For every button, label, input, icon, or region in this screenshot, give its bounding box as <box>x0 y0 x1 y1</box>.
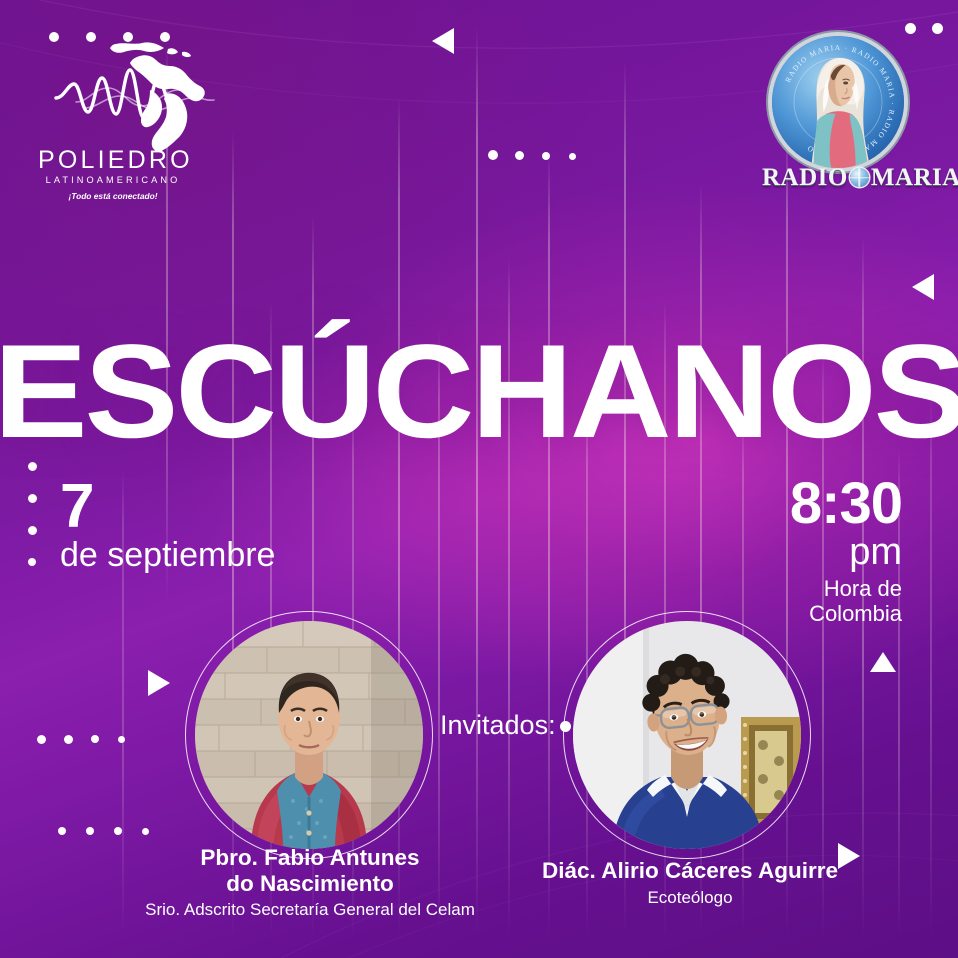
poliedro-wordmark: POLIEDRO <box>38 148 186 173</box>
portrait-man-red-jacket-brick-wall <box>195 621 423 849</box>
guests-label: Invitados: <box>440 710 556 741</box>
poliedro-logo[interactable]: POLIEDRO LATINOAMERICANO ¡Todo está cone… <box>38 40 238 190</box>
guest-1-name-line-2: do Nascimiento <box>110 871 510 897</box>
time-zone-line-1: Hora de <box>790 577 902 602</box>
virgin-mary-figure <box>799 52 881 168</box>
guest-photo-1 <box>195 621 423 849</box>
triangle-left-edge-icon <box>912 274 934 300</box>
page-title: ESCÚCHANOS <box>0 326 958 459</box>
guest-2-role: Ecoteólogo <box>490 888 890 908</box>
time-meridiem: pm <box>790 533 902 571</box>
guest-1-name-line-1: Pbro. Fabio Antunes <box>110 845 510 871</box>
triangle-left-top-icon <box>432 28 454 54</box>
guest-photo-2 <box>573 621 801 849</box>
event-date: 7 de septiembre <box>60 478 275 574</box>
event-time: 8:30 pm Hora de Colombia <box>790 476 902 626</box>
guest-2-name-line-1: Diác. Alirio Cáceres Aguirre <box>490 858 890 884</box>
time-clock: 8:30 <box>790 476 902 531</box>
date-day: 7 <box>60 478 275 535</box>
triangle-up-icon <box>870 652 896 672</box>
portrait-man-glasses-blue-sweater <box>573 621 801 849</box>
poliedro-tagline: ¡Todo está conectado! <box>38 192 188 200</box>
latin-america-map-waveform-icon <box>54 40 224 152</box>
guest-1-role: Srio. Adscrito Secretaría General del Ce… <box>110 900 510 920</box>
promo-poster: POLIEDRO LATINOAMERICANO ¡Todo está cone… <box>0 0 958 958</box>
radio-maria-logo[interactable]: RADIO MARIA · RADIO MARIA · RADIO MARIA … <box>762 36 922 186</box>
triangle-play-left-icon <box>148 670 170 696</box>
poliedro-subtitle: LATINOAMERICANO <box>38 176 188 185</box>
radio-maria-wordmark: RADIOMARIA <box>762 164 922 192</box>
guest-caption-2: Diác. Alirio Cáceres Aguirre Ecoteólogo <box>490 858 890 908</box>
globe-icon <box>850 168 869 187</box>
virgin-mary-medallion-icon: RADIO MARIA · RADIO MARIA · RADIO MARIA … <box>772 36 904 168</box>
time-zone: Hora de Colombia <box>790 577 902 626</box>
maria-word: MARIA <box>871 164 958 191</box>
guest-caption-1: Pbro. Fabio Antunes do Nascimiento Srio.… <box>110 845 510 921</box>
time-zone-line-2: Colombia <box>790 602 902 627</box>
radio-word: RADIO <box>762 164 848 191</box>
date-month: de septiembre <box>60 537 275 574</box>
